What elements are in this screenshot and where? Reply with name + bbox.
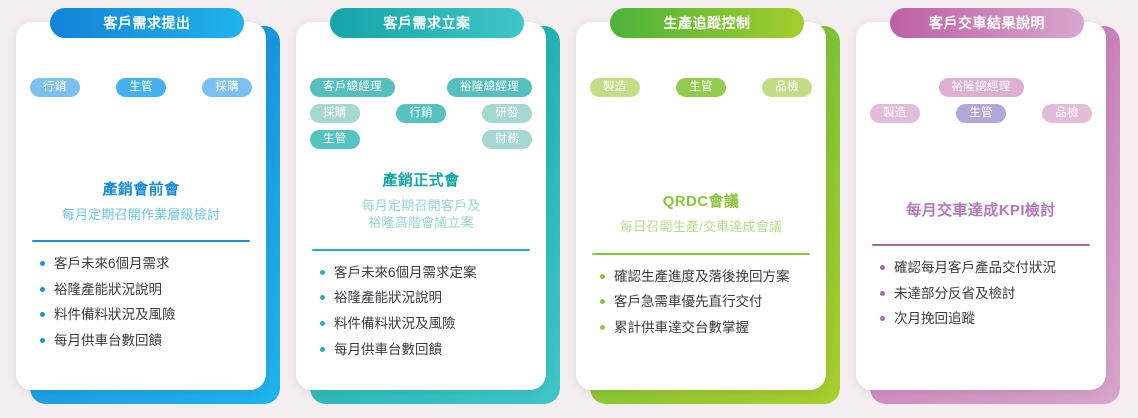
agenda-item-text: 料件備料狀況及風險 bbox=[334, 316, 456, 331]
agenda-list: 客戶未來6個月需求裕隆產能狀況說明料件備料狀況及風險每月供車台數回饋 bbox=[30, 254, 252, 356]
meeting-subtitle: 每日召開生產/交車達成會議 bbox=[590, 218, 812, 236]
section-divider bbox=[312, 249, 530, 251]
card-header-pill[interactable]: 客戶交車結果說明 bbox=[890, 8, 1084, 38]
meeting-subtitle-line: 每月定期召開客戶及 bbox=[310, 197, 532, 215]
process-card: 裕隆總經理製造生管品檢每月交車達成KPI檢討確認每月客戶產品交付狀況未達部分反省… bbox=[852, 8, 1120, 408]
role-tag-highlighted[interactable]: 生管 bbox=[676, 78, 726, 97]
agenda-list: 確認生產進度及落後挽回方案客戶急需車優先直行交付累計供車達交台數掌握 bbox=[590, 267, 812, 344]
role-tag-highlighted[interactable]: 客戶總經理 bbox=[310, 78, 395, 97]
agenda-list-item: 客戶未來6個月需求 bbox=[40, 254, 252, 274]
role-tag-group: 裕隆總經理製造生管品檢 bbox=[870, 78, 1092, 152]
meeting-title: 產銷會前會 bbox=[30, 178, 252, 199]
meeting-subtitle: 每月定期召開客戶及裕隆高階會議立案 bbox=[310, 197, 532, 232]
process-card: 行銷生管採購產銷會前會每月定期召開作業層級檢討客戶未來6個月需求裕隆產能狀況說明… bbox=[12, 8, 280, 408]
meeting-info: 每月交車達成KPI檢討 bbox=[870, 199, 1092, 227]
agenda-list-item: 累計供車達交台數掌握 bbox=[600, 318, 812, 338]
meeting-subtitle-line: 每月定期召開作業層級檢討 bbox=[30, 206, 252, 224]
agenda-list-item: 確認生產進度及落後挽回方案 bbox=[600, 267, 812, 287]
agenda-item-text: 客戶急需車優先直行交付 bbox=[614, 294, 763, 309]
agenda-item-text: 次月挽回追蹤 bbox=[894, 311, 975, 326]
agenda-list-item: 客戶未來6個月需求定案 bbox=[320, 263, 532, 283]
card-bottom-spacer bbox=[310, 382, 532, 390]
agenda-list-item: 次月挽回追蹤 bbox=[880, 309, 1092, 329]
role-tag-highlighted[interactable]: 生管 bbox=[310, 130, 360, 149]
role-tag-highlighted[interactable]: 生管 bbox=[956, 104, 1006, 123]
role-tag-row: 行銷生管採購 bbox=[30, 78, 252, 97]
card-bottom-spacer bbox=[590, 382, 812, 390]
role-tag[interactable]: 財務 bbox=[482, 130, 532, 149]
card-body: 裕隆總經理製造生管品檢每月交車達成KPI檢討確認每月客戶產品交付狀況未達部分反省… bbox=[856, 22, 1106, 390]
role-tag-group: 製造生管品檢 bbox=[590, 78, 812, 152]
role-tag-row: 製造生管品檢 bbox=[870, 104, 1092, 123]
meeting-subtitle-line: 每日召開生產/交車達成會議 bbox=[590, 218, 812, 236]
agenda-item-text: 裕隆產能狀況說明 bbox=[334, 290, 442, 305]
agenda-list: 客戶未來6個月需求定案裕隆產能狀況說明料件備料狀況及風險每月供車台數回饋 bbox=[310, 263, 532, 365]
role-tag[interactable]: 採購 bbox=[202, 78, 252, 97]
card-header-pill[interactable]: 生產追蹤控制 bbox=[610, 8, 804, 38]
meeting-info: QRDC會議每日召開生產/交車達成會議 bbox=[590, 190, 812, 236]
role-tag-highlighted[interactable]: 行銷 bbox=[396, 104, 446, 123]
role-tag-row: 生管財務 bbox=[310, 130, 532, 149]
role-tag-highlighted[interactable]: 生管 bbox=[116, 78, 166, 97]
role-tag[interactable]: 製造 bbox=[590, 78, 640, 97]
agenda-list-item: 裕隆產能狀況說明 bbox=[40, 280, 252, 300]
agenda-list-item: 客戶急需車優先直行交付 bbox=[600, 292, 812, 312]
process-card: 客戶總經理裕隆總經理採購行銷研發生管財務產銷正式會每月定期召開客戶及裕隆高階會議… bbox=[292, 8, 560, 408]
agenda-list: 確認每月客戶產品交付狀況未達部分反省及檢討次月挽回追蹤 bbox=[870, 258, 1092, 335]
card-bottom-spacer bbox=[30, 382, 252, 390]
role-tag-row: 客戶總經理裕隆總經理 bbox=[310, 78, 532, 97]
role-tag[interactable]: 品檢 bbox=[1042, 104, 1092, 123]
section-divider bbox=[872, 244, 1090, 246]
role-tag-row: 製造生管品檢 bbox=[590, 78, 812, 97]
agenda-item-text: 每月供車台數回饋 bbox=[54, 333, 162, 348]
meeting-title: QRDC會議 bbox=[590, 190, 812, 211]
agenda-list-item: 每月供車台數回饋 bbox=[320, 340, 532, 360]
agenda-list-item: 未達部分反省及檢討 bbox=[880, 284, 1092, 304]
role-tag[interactable]: 品檢 bbox=[762, 78, 812, 97]
role-tag[interactable]: 裕隆總經理 bbox=[939, 78, 1024, 97]
agenda-item-text: 料件備料狀況及風險 bbox=[54, 307, 176, 322]
agenda-item-text: 累計供車達交台數掌握 bbox=[614, 320, 749, 335]
agenda-item-text: 客戶未來6個月需求 bbox=[54, 256, 170, 271]
agenda-item-text: 確認每月客戶產品交付狀況 bbox=[894, 260, 1056, 275]
role-tag[interactable]: 製造 bbox=[870, 104, 920, 123]
meeting-subtitle: 每月定期召開作業層級檢討 bbox=[30, 206, 252, 224]
card-header-pill[interactable]: 客戶需求立案 bbox=[330, 8, 524, 38]
meeting-info: 產銷正式會每月定期召開客戶及裕隆高階會議立案 bbox=[310, 169, 532, 232]
process-card: 製造生管品檢QRDC會議每日召開生產/交車達成會議確認生產進度及落後挽回方案客戶… bbox=[572, 8, 840, 408]
role-tag[interactable]: 採購 bbox=[310, 104, 360, 123]
role-tag-row: 裕隆總經理 bbox=[870, 78, 1092, 97]
role-tag-group: 行銷生管採購 bbox=[30, 78, 252, 152]
agenda-item-text: 每月供車台數回饋 bbox=[334, 342, 442, 357]
role-tag[interactable]: 行銷 bbox=[30, 78, 80, 97]
role-tag[interactable]: 研發 bbox=[482, 104, 532, 123]
agenda-list-item: 確認每月客戶產品交付狀況 bbox=[880, 258, 1092, 278]
agenda-list-item: 料件備料狀況及風險 bbox=[40, 305, 252, 325]
section-divider bbox=[592, 253, 810, 255]
meeting-title: 產銷正式會 bbox=[310, 169, 532, 190]
card-body: 客戶總經理裕隆總經理採購行銷研發生管財務產銷正式會每月定期召開客戶及裕隆高階會議… bbox=[296, 22, 546, 390]
card-body: 製造生管品檢QRDC會議每日召開生產/交車達成會議確認生產進度及落後挽回方案客戶… bbox=[576, 22, 826, 390]
card-header-pill[interactable]: 客戶需求提出 bbox=[50, 8, 244, 38]
role-tag-row: 採購行銷研發 bbox=[310, 104, 532, 123]
agenda-list-item: 料件備料狀況及風險 bbox=[320, 314, 532, 334]
agenda-list-item: 每月供車台數回饋 bbox=[40, 331, 252, 351]
meeting-title: 每月交車達成KPI檢討 bbox=[870, 199, 1092, 220]
agenda-item-text: 確認生產進度及落後挽回方案 bbox=[614, 269, 790, 284]
meeting-subtitle-line: 裕隆高階會議立案 bbox=[310, 214, 532, 232]
agenda-item-text: 未達部分反省及檢討 bbox=[894, 286, 1016, 301]
card-bottom-spacer bbox=[870, 382, 1092, 390]
card-body: 行銷生管採購產銷會前會每月定期召開作業層級檢討客戶未來6個月需求裕隆產能狀況說明… bbox=[16, 22, 266, 390]
agenda-list-item: 裕隆產能狀況說明 bbox=[320, 288, 532, 308]
role-tag-highlighted[interactable]: 裕隆總經理 bbox=[447, 78, 532, 97]
role-tag-group: 客戶總經理裕隆總經理採購行銷研發生管財務 bbox=[310, 78, 532, 152]
process-cards-board: 行銷生管採購產銷會前會每月定期召開作業層級檢討客戶未來6個月需求裕隆產能狀況說明… bbox=[0, 0, 1138, 418]
section-divider bbox=[32, 240, 250, 242]
agenda-item-text: 裕隆產能狀況說明 bbox=[54, 282, 162, 297]
agenda-item-text: 客戶未來6個月需求定案 bbox=[334, 265, 477, 280]
meeting-info: 產銷會前會每月定期召開作業層級檢討 bbox=[30, 178, 252, 224]
